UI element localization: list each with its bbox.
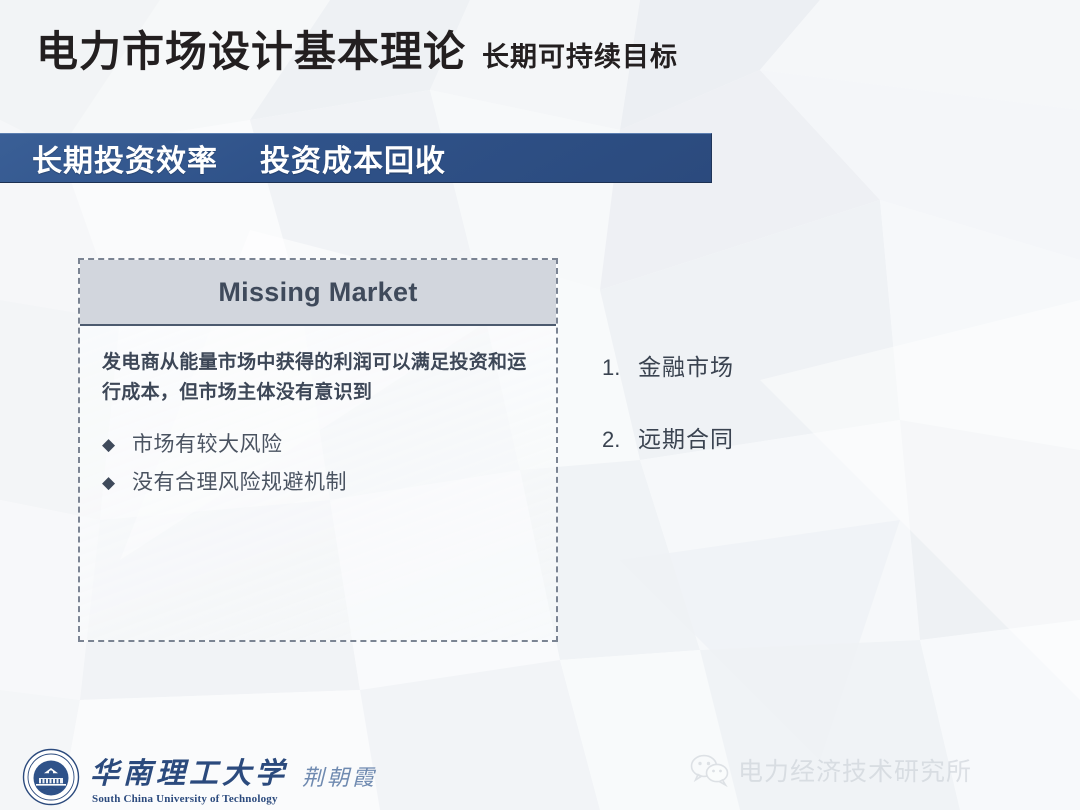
page-title: 电力市场设计基本理论 长期可持续目标	[36, 18, 678, 79]
wechat-account-label: 电力经济技术研究所	[738, 752, 972, 788]
university-name-row: 华南理工大学 荆朝霞	[90, 750, 377, 792]
banner-label-left: 长期投资效率	[32, 136, 218, 180]
list-item: ◆ 没有合理风险规避机制	[102, 468, 536, 498]
list-item: 1. 金融市场	[602, 348, 734, 382]
university-name-english: South China University of Technology	[92, 793, 377, 805]
card-lead-paragraph: 发电商从能量市场中获得的利润可以满足投资和运行成本，但市场主体没有意识到	[102, 348, 536, 408]
university-seal-icon	[22, 748, 80, 806]
university-branding: 华南理工大学 荆朝霞 South China University of Tec…	[22, 748, 377, 806]
numbered-solution-list: 1. 金融市场 2. 远期合同	[602, 348, 734, 492]
list-item-label: 没有合理风险规避机制	[132, 468, 347, 498]
slide-canvas: 电力市场设计基本理论 长期可持续目标 长期投资效率 投资成本回收 Missing…	[0, 0, 1080, 810]
card-title-text: Missing Market	[218, 277, 417, 308]
card-header: Missing Market	[80, 260, 556, 326]
university-name-chinese: 华南理工大学	[90, 750, 288, 792]
list-item-label: 远期合同	[638, 420, 734, 454]
section-banner: 长期投资效率 投资成本回收	[0, 133, 712, 183]
diamond-bullet-icon: ◆	[102, 468, 132, 498]
banner-label-right: 投资成本回收	[260, 136, 446, 180]
list-item-number: 1.	[602, 355, 638, 381]
university-name-block: 华南理工大学 荆朝霞 South China University of Tec…	[90, 750, 377, 805]
list-item: ◆ 市场有较大风险	[102, 430, 536, 460]
title-main-text: 电力市场设计基本理论	[36, 18, 466, 79]
wechat-icon	[690, 753, 730, 787]
card-body: 发电商从能量市场中获得的利润可以满足投资和运行成本，但市场主体没有意识到 ◆ 市…	[80, 326, 556, 498]
card-bullet-list: ◆ 市场有较大风险 ◆ 没有合理风险规避机制	[102, 430, 536, 498]
wechat-account-branding: 电力经济技术研究所	[690, 752, 972, 788]
list-item-number: 2.	[602, 427, 638, 453]
missing-market-card: Missing Market 发电商从能量市场中获得的利润可以满足投资和运行成本…	[78, 258, 558, 642]
list-item-label: 金融市场	[638, 348, 734, 382]
diamond-bullet-icon: ◆	[102, 430, 132, 460]
presenter-name: 荆朝霞	[302, 760, 377, 792]
list-item-label: 市场有较大风险	[132, 430, 283, 460]
list-item: 2. 远期合同	[602, 420, 734, 454]
title-subtitle-text: 长期可持续目标	[482, 35, 678, 74]
